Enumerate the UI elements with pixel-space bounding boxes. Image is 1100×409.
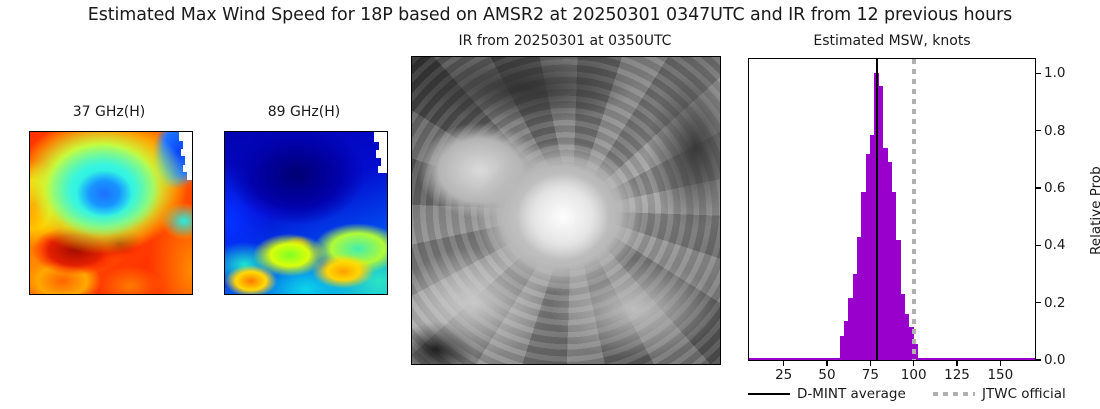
legend-line-solid-icon bbox=[748, 393, 790, 395]
histogram-chart: 255075100125150 0.00.20.40.60.81.0 Relat… bbox=[0, 0, 1100, 409]
y-tick bbox=[1036, 245, 1041, 246]
histogram-baseline bbox=[749, 358, 1035, 360]
histogram-plot-area bbox=[749, 59, 1035, 360]
figure: Estimated Max Wind Speed for 18P based o… bbox=[0, 0, 1100, 409]
legend-label-jtwc: JTWC official bbox=[982, 386, 1066, 402]
y-tick-label: 0.2 bbox=[1044, 295, 1065, 311]
legend-item-dmint: D-MINT average bbox=[748, 381, 906, 407]
x-tick bbox=[826, 361, 827, 366]
x-tick bbox=[956, 361, 957, 366]
y-tick bbox=[1036, 73, 1041, 74]
legend-line-dotted-icon bbox=[933, 392, 975, 396]
histogram-y-axis-label: Relative Prob bbox=[1088, 166, 1100, 255]
chart-legend: D-MINT average JTWC official bbox=[748, 381, 1078, 407]
y-tick-label: 0.8 bbox=[1044, 123, 1065, 139]
x-tick bbox=[783, 361, 784, 366]
legend-item-jtwc: JTWC official bbox=[933, 381, 1066, 407]
x-tick bbox=[870, 361, 871, 366]
y-tick bbox=[1036, 359, 1041, 360]
y-tick-label: 0.4 bbox=[1044, 237, 1065, 253]
y-tick-label: 1.0 bbox=[1044, 65, 1065, 81]
y-tick bbox=[1036, 187, 1041, 188]
dmint-average-line bbox=[876, 59, 878, 360]
y-tick bbox=[1036, 302, 1041, 303]
legend-label-dmint: D-MINT average bbox=[797, 386, 906, 402]
jtwc-official-line bbox=[912, 59, 916, 360]
y-tick bbox=[1036, 130, 1041, 131]
x-tick bbox=[913, 361, 914, 366]
y-tick-label: 0.0 bbox=[1044, 352, 1065, 368]
x-tick bbox=[1000, 361, 1001, 366]
y-tick-label: 0.6 bbox=[1044, 180, 1065, 196]
